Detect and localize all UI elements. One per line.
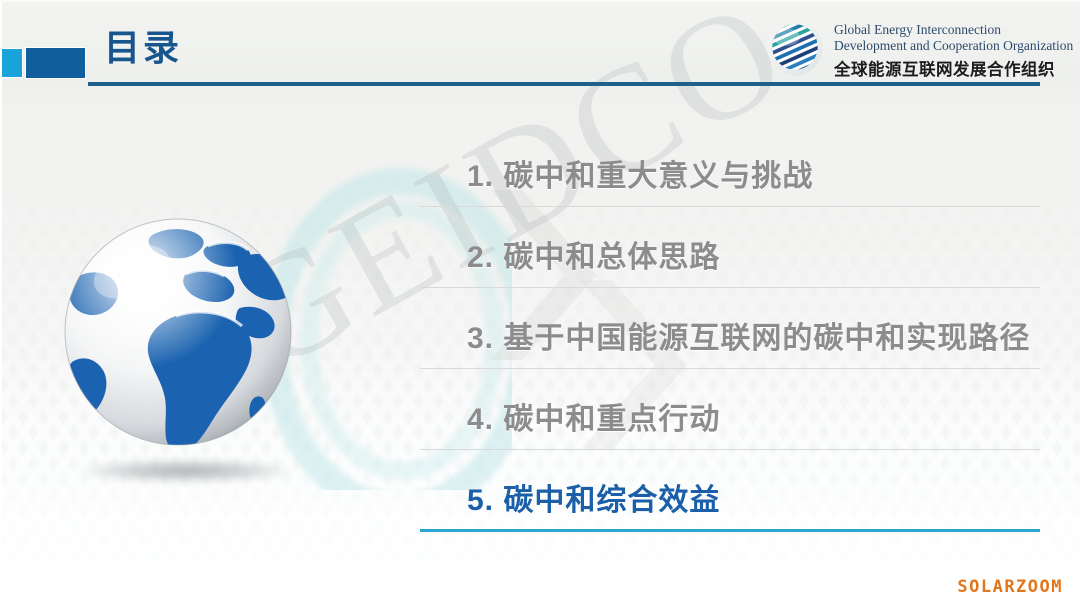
- agenda-item-5-label: 5. 碳中和综合效益: [467, 475, 720, 519]
- org-cn-name: 全球能源互联网发展合作组织: [834, 56, 1080, 80]
- agenda-item-2-label: 2. 碳中和总体思路: [467, 232, 720, 276]
- top-edge-border: [0, 0, 1080, 2]
- agenda-item-3-label: 3. 基于中国能源互联网的碳中和实现路径: [467, 313, 1030, 357]
- agenda-item-4[interactable]: 4. 碳中和重点行动: [467, 369, 1040, 450]
- agenda-item-5-divider: [420, 529, 1040, 532]
- agenda-item-1-label: 1. 碳中和重大意义与挑战: [467, 151, 813, 195]
- striped-globe-logo-icon: [764, 16, 826, 78]
- agenda-item-3[interactable]: 3. 基于中国能源互联网的碳中和实现路径: [467, 288, 1040, 369]
- header-square-dark: [25, 47, 86, 79]
- slide-catalog: GEIDCO 目录: [0, 0, 1080, 608]
- organization-name-block: Global Energy Interconnection Developmen…: [834, 22, 1080, 80]
- page-title: 目录: [104, 30, 182, 66]
- globe-shadow: [82, 460, 290, 482]
- org-en-line2: Development and Cooperation Organization: [834, 38, 1080, 54]
- solarzoom-watermark: SOLARZOOM: [957, 577, 1063, 597]
- agenda-item-4-label: 4. 碳中和重点行动: [467, 394, 720, 438]
- agenda-list: 1. 碳中和重大意义与挑战 2. 碳中和总体思路 3. 基于中国能源互联网的碳中…: [467, 126, 1040, 531]
- blue-earth-globe-icon: [58, 212, 308, 462]
- org-en-line1: Global Energy Interconnection: [834, 22, 1080, 38]
- header-square-light: [1, 48, 23, 78]
- organization-logo: Global Energy Interconnection Developmen…: [758, 8, 1078, 86]
- agenda-item-2[interactable]: 2. 碳中和总体思路: [467, 207, 1040, 288]
- earth-globe-illustration: [58, 212, 308, 502]
- left-edge-border: [0, 0, 2, 608]
- agenda-item-1[interactable]: 1. 碳中和重大意义与挑战: [467, 126, 1040, 207]
- agenda-item-5[interactable]: 5. 碳中和综合效益: [467, 450, 1040, 531]
